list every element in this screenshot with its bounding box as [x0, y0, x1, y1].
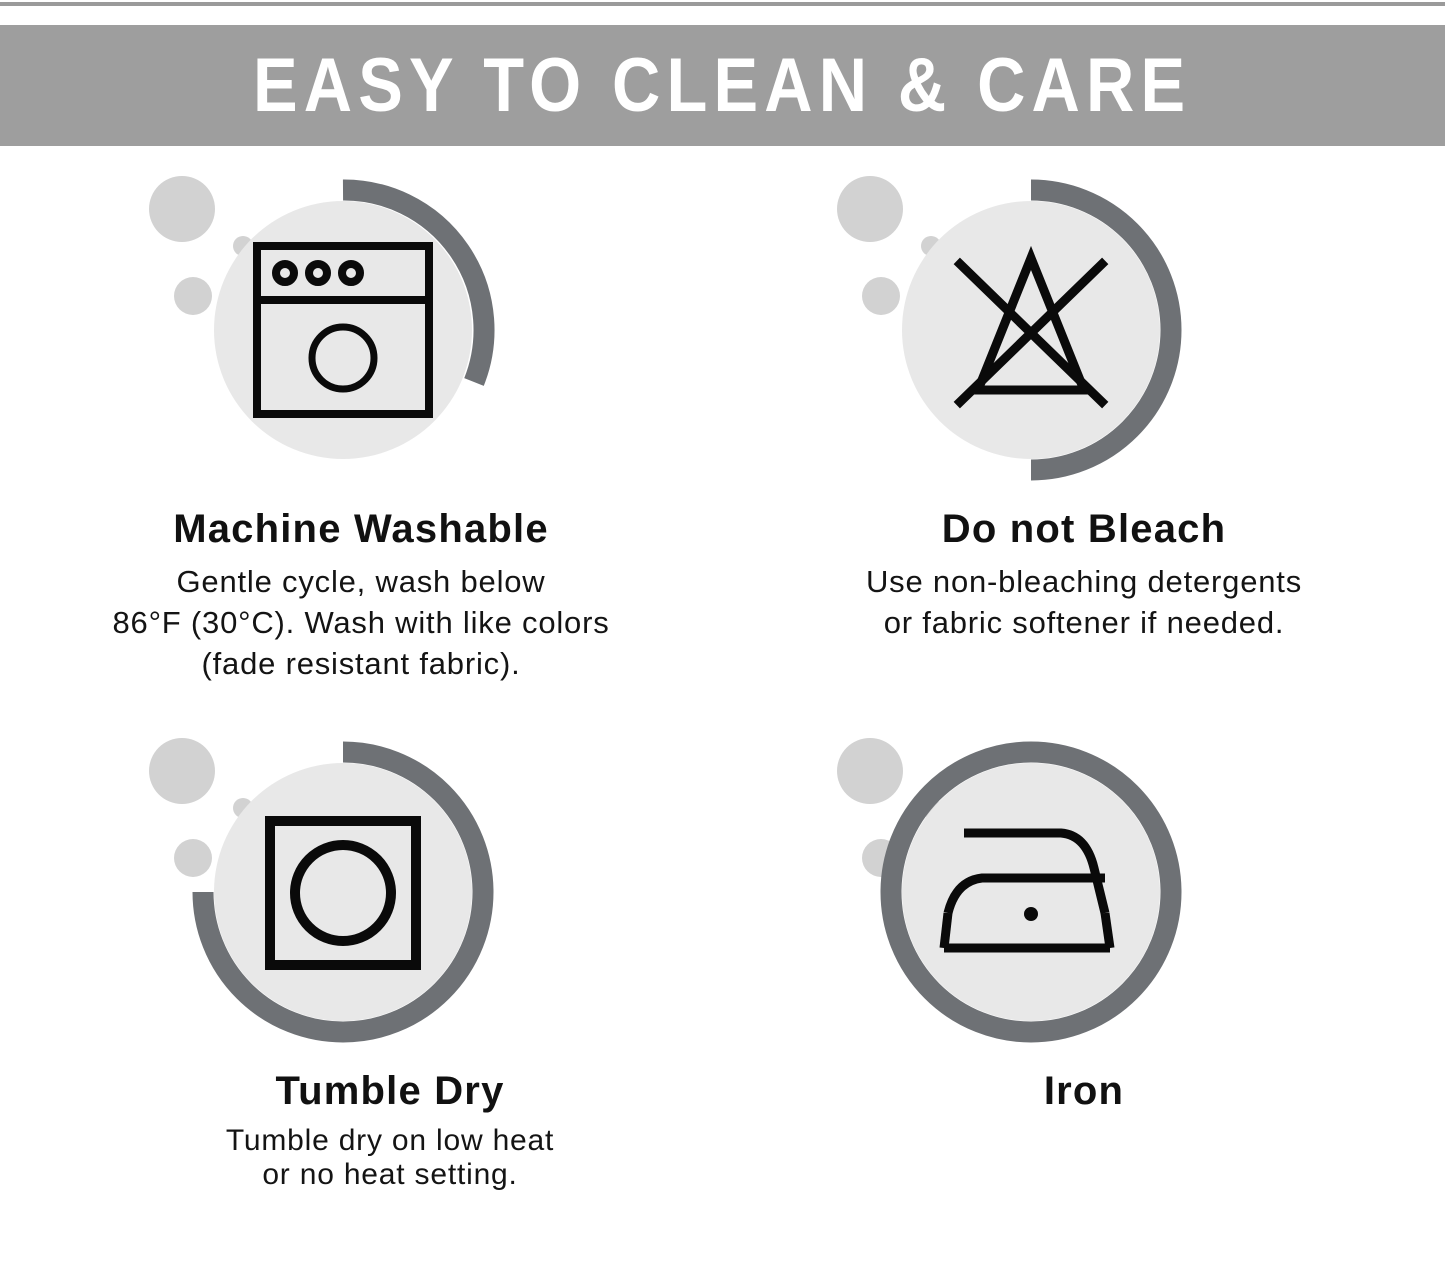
tumble-dry-heading: Tumble Dry	[80, 1068, 700, 1114]
description-line: Tumble dry on low heat	[80, 1124, 700, 1158]
do-not-bleach-icon-container	[828, 146, 1228, 506]
do-not-bleach-icon	[828, 146, 1228, 506]
iron-text: Iron	[752, 1068, 1416, 1114]
top-divider-rule	[0, 2, 1445, 6]
description-line: 86°F (30°C). Wash with like colors	[31, 603, 691, 644]
description-line: or fabric softener if needed.	[764, 603, 1404, 644]
do-not-bleach-description: Use non-bleaching detergents or fabric s…	[764, 562, 1404, 644]
machine-washable-text: Machine Washable Gentle cycle, wash belo…	[9, 506, 713, 685]
care-card-do-not-bleach: Do not Bleach Use non-bleaching detergen…	[723, 146, 1445, 644]
washing-machine-icon-container	[140, 146, 540, 506]
header-banner: EASY TO CLEAN & CARE	[0, 25, 1445, 146]
page-title: EASY TO CLEAN & CARE	[253, 48, 1191, 124]
tumble-dry-icon	[140, 708, 540, 1068]
description-line: or no heat setting.	[80, 1158, 700, 1192]
care-instruction-grid: Machine Washable Gentle cycle, wash belo…	[0, 146, 1445, 1263]
description-line: Use non-bleaching detergents	[764, 562, 1404, 603]
tumble-dry-text: Tumble Dry Tumble dry on low heat or no …	[58, 1068, 722, 1191]
care-card-tumble-dry: Tumble Dry Tumble dry on low heat or no …	[0, 708, 722, 1191]
tumble-dry-description: Tumble dry on low heat or no heat settin…	[80, 1124, 700, 1191]
machine-washable-description: Gentle cycle, wash below 86°F (30°C). Wa…	[31, 562, 691, 685]
washing-machine-icon	[140, 146, 540, 506]
iron-icon-container	[828, 708, 1228, 1068]
do-not-bleach-heading: Do not Bleach	[764, 506, 1404, 552]
description-line: Gentle cycle, wash below	[31, 562, 691, 603]
iron-heading: Iron	[774, 1068, 1394, 1114]
tumble-dry-icon-container	[140, 708, 540, 1068]
care-card-machine-washable: Machine Washable Gentle cycle, wash belo…	[0, 146, 722, 685]
machine-washable-heading: Machine Washable	[31, 506, 691, 552]
iron-icon	[828, 708, 1228, 1068]
do-not-bleach-text: Do not Bleach Use non-bleaching detergen…	[742, 506, 1426, 644]
care-card-iron: Iron	[723, 708, 1445, 1124]
description-line: (fade resistant fabric).	[31, 644, 691, 685]
